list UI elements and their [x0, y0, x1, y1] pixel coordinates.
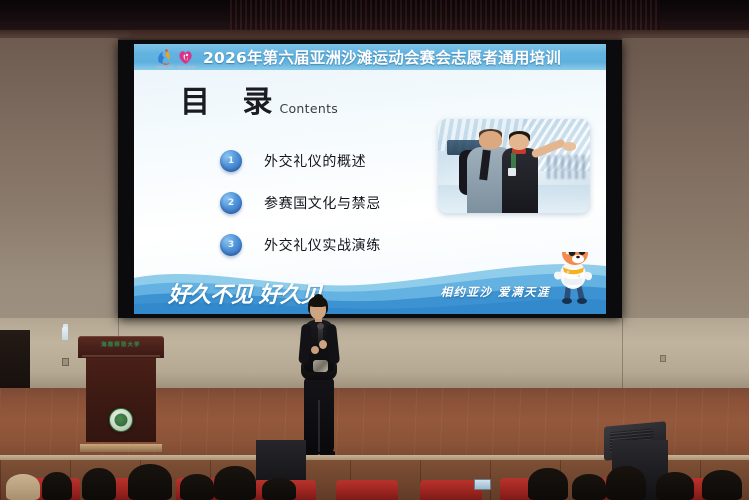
wall-outlet-right	[660, 355, 666, 362]
presenter-trouser-seam	[318, 400, 320, 452]
toc-label: 外交礼仪的概述	[264, 151, 366, 171]
emblem-caption: Sanya 2026	[177, 65, 194, 69]
audience-head	[6, 474, 40, 500]
volunteer-body	[502, 148, 538, 213]
audience-head	[128, 464, 172, 500]
volunteer-heart-emblem-icon: Sanya 2026	[177, 47, 194, 68]
microphone-head	[317, 323, 324, 329]
auditorium-scene: Sanya 2026 Sanya 2026 2026年第六届亚洲沙滩运动会赛会志…	[0, 0, 749, 500]
audience-area	[0, 462, 749, 500]
contents-heading: 目 录 Contents	[180, 88, 338, 118]
wall-outlet-left	[62, 358, 69, 366]
list-item: 2 参赛国文化与禁忌	[220, 182, 470, 224]
audience-head	[572, 474, 606, 500]
volunteer-guiding-traveler-photo	[438, 119, 590, 213]
lectern-base	[80, 444, 162, 452]
event-logos: Sanya 2026 Sanya 2026	[156, 47, 194, 68]
event-slogan: 相约亚沙 爱满天涯	[440, 284, 550, 300]
audience-head	[262, 478, 296, 500]
emblem-caption: Sanya 2026	[156, 65, 173, 69]
audience-head	[42, 472, 72, 500]
slide-title: 2026年第六届亚洲沙滩运动会赛会志愿者通用培训	[203, 46, 561, 68]
audience-head	[180, 474, 214, 500]
university-crest-icon	[109, 408, 133, 432]
lectern-university-name: 海南师范大学	[78, 341, 164, 348]
traveler-head	[479, 131, 502, 149]
audience-head	[214, 466, 256, 500]
auditorium-seat	[336, 480, 398, 500]
slide-wave-footer: See ya in Sanya 好久不见 好久见 相约亚沙 爱满天涯	[134, 252, 606, 314]
contents-heading-en: Contents	[279, 101, 338, 116]
toc-number-badge: 2	[220, 192, 242, 214]
toc-label: 参赛国文化与禁忌	[264, 193, 381, 213]
brand-tagline-en: See ya in Sanya	[206, 271, 247, 276]
audience-laptop	[474, 479, 491, 490]
audience-head	[82, 468, 116, 500]
audience-head	[702, 470, 742, 500]
wooden-lectern: 海南师范大学	[78, 336, 164, 452]
water-bottle	[62, 327, 68, 340]
presentation-slide: Sanya 2026 Sanya 2026 2026年第六届亚洲沙滩运动会赛会志…	[134, 44, 606, 314]
sanya-deer-mascot-icon	[546, 252, 598, 304]
presenter-hair-bun	[314, 294, 323, 300]
toc-number-badge: 1	[220, 150, 242, 172]
presenter-hand-right	[319, 340, 327, 349]
audience-head	[656, 472, 694, 500]
table-of-contents: 1 外交礼仪的概述 2 参赛国文化与禁忌 3 外交礼仪实战演练	[220, 140, 470, 266]
list-item: 1 外交礼仪的概述	[220, 140, 470, 182]
auditorium-seat	[420, 480, 482, 500]
sanya-brand-logo: See ya in Sanya 好久不见 好久见	[168, 272, 288, 306]
lectern-body	[86, 358, 156, 442]
lectern-top-panel: 海南师范大学	[78, 336, 164, 358]
presenter-hand-left	[311, 346, 319, 354]
audience-head	[606, 466, 646, 500]
background-crowd	[547, 155, 587, 179]
slide-title-bar: Sanya 2026 Sanya 2026 2026年第六届亚洲沙滩运动会赛会志…	[134, 44, 606, 70]
audience-head	[528, 468, 568, 500]
volunteer-hand	[563, 142, 577, 151]
side-doorway	[0, 330, 30, 390]
volunteer-head	[509, 134, 529, 150]
curtain-pleats	[230, 0, 660, 32]
asian-beach-games-emblem-icon: Sanya 2026	[156, 47, 173, 68]
wall-seam-right	[622, 318, 623, 390]
contents-heading-cn: 目 录	[180, 88, 283, 118]
presenter-speaker	[288, 296, 350, 464]
volunteer-id-badge	[508, 168, 516, 176]
presenter-belt-buckle	[313, 360, 328, 372]
